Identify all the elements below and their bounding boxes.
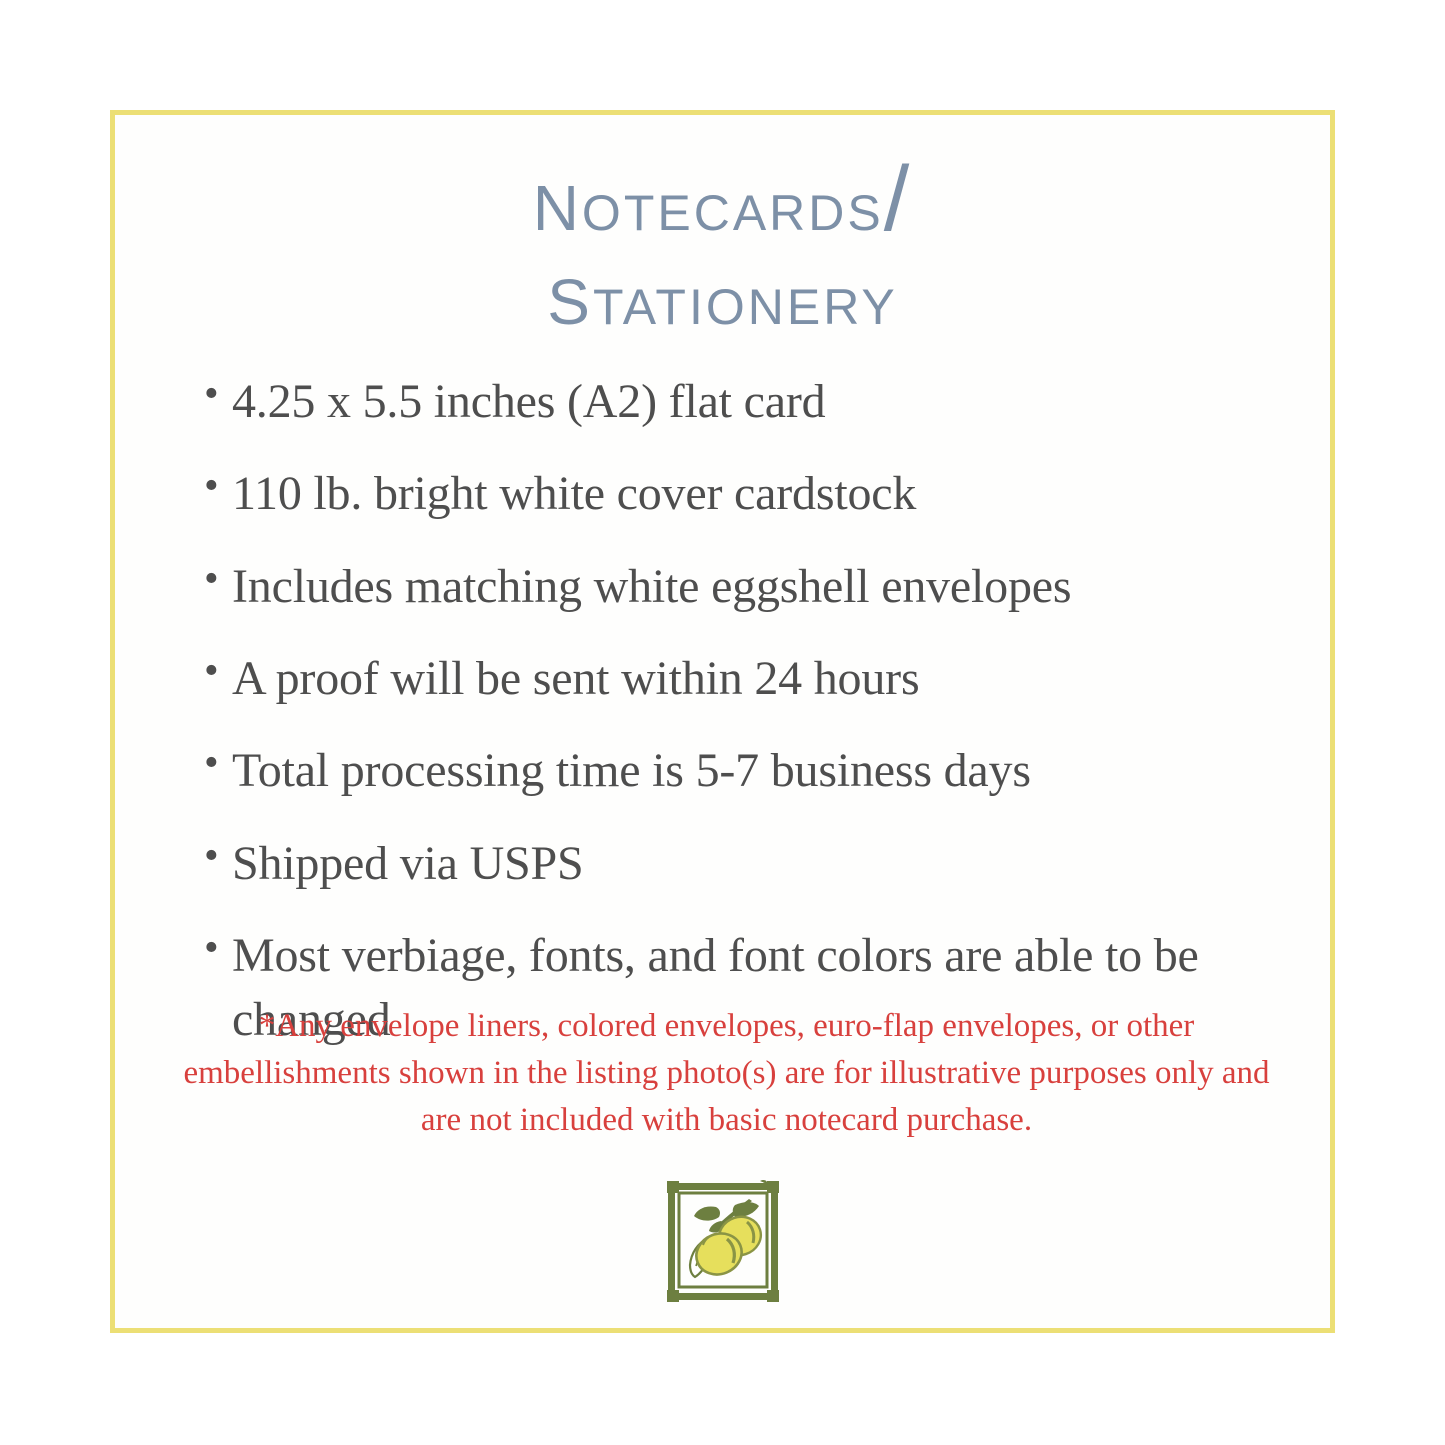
disclaimer-text: *Any envelope liners, colored envelopes,…: [163, 1003, 1290, 1144]
bullet-icon: •: [200, 739, 232, 789]
list-item-label: A proof will be sent within 24 hours: [232, 647, 1290, 711]
list-item-label: 110 lb. bright white cover cardstock: [232, 462, 1290, 526]
page-title: NOTECARDS/ STATIONERY: [115, 153, 1330, 341]
list-item: • A proof will be sent within 24 hours: [200, 647, 1290, 711]
feature-list: • 4.25 x 5.5 inches (A2) flat card • 110…: [200, 370, 1290, 1081]
list-item: • Total processing time is 5-7 business …: [200, 739, 1290, 803]
bullet-icon: •: [200, 555, 232, 605]
list-item-label: Includes matching white eggshell envelop…: [232, 555, 1290, 619]
list-item: • Includes matching white eggshell envel…: [200, 555, 1290, 619]
list-item-label: 4.25 x 5.5 inches (A2) flat card: [232, 370, 1290, 434]
bullet-icon: •: [200, 370, 232, 420]
bullet-icon: •: [200, 647, 232, 697]
bullet-icon: •: [200, 832, 232, 882]
lemon-branch-in-frame-icon: [661, 1177, 785, 1307]
list-item: • 110 lb. bright white cover cardstock: [200, 462, 1290, 526]
list-item: • Shipped via USPS: [200, 832, 1290, 896]
bullet-icon: •: [200, 462, 232, 512]
yellow-border-frame: NOTECARDS/ STATIONERY Notecards/ Station…: [110, 110, 1335, 1333]
card-inner: NOTECARDS/ STATIONERY Notecards/ Station…: [115, 115, 1330, 1328]
bullet-icon: •: [200, 924, 232, 974]
list-item-label: Shipped via USPS: [232, 832, 1290, 896]
list-item-label: Total processing time is 5-7 business da…: [232, 739, 1290, 803]
poster-canvas: NOTECARDS/ STATIONERY Notecards/ Station…: [0, 0, 1445, 1445]
title-line-2: STATIONERY: [115, 247, 1330, 341]
list-item: • 4.25 x 5.5 inches (A2) flat card: [200, 370, 1290, 434]
title-line-1: NOTECARDS/: [115, 153, 1330, 247]
logo-container: [115, 1177, 1330, 1307]
